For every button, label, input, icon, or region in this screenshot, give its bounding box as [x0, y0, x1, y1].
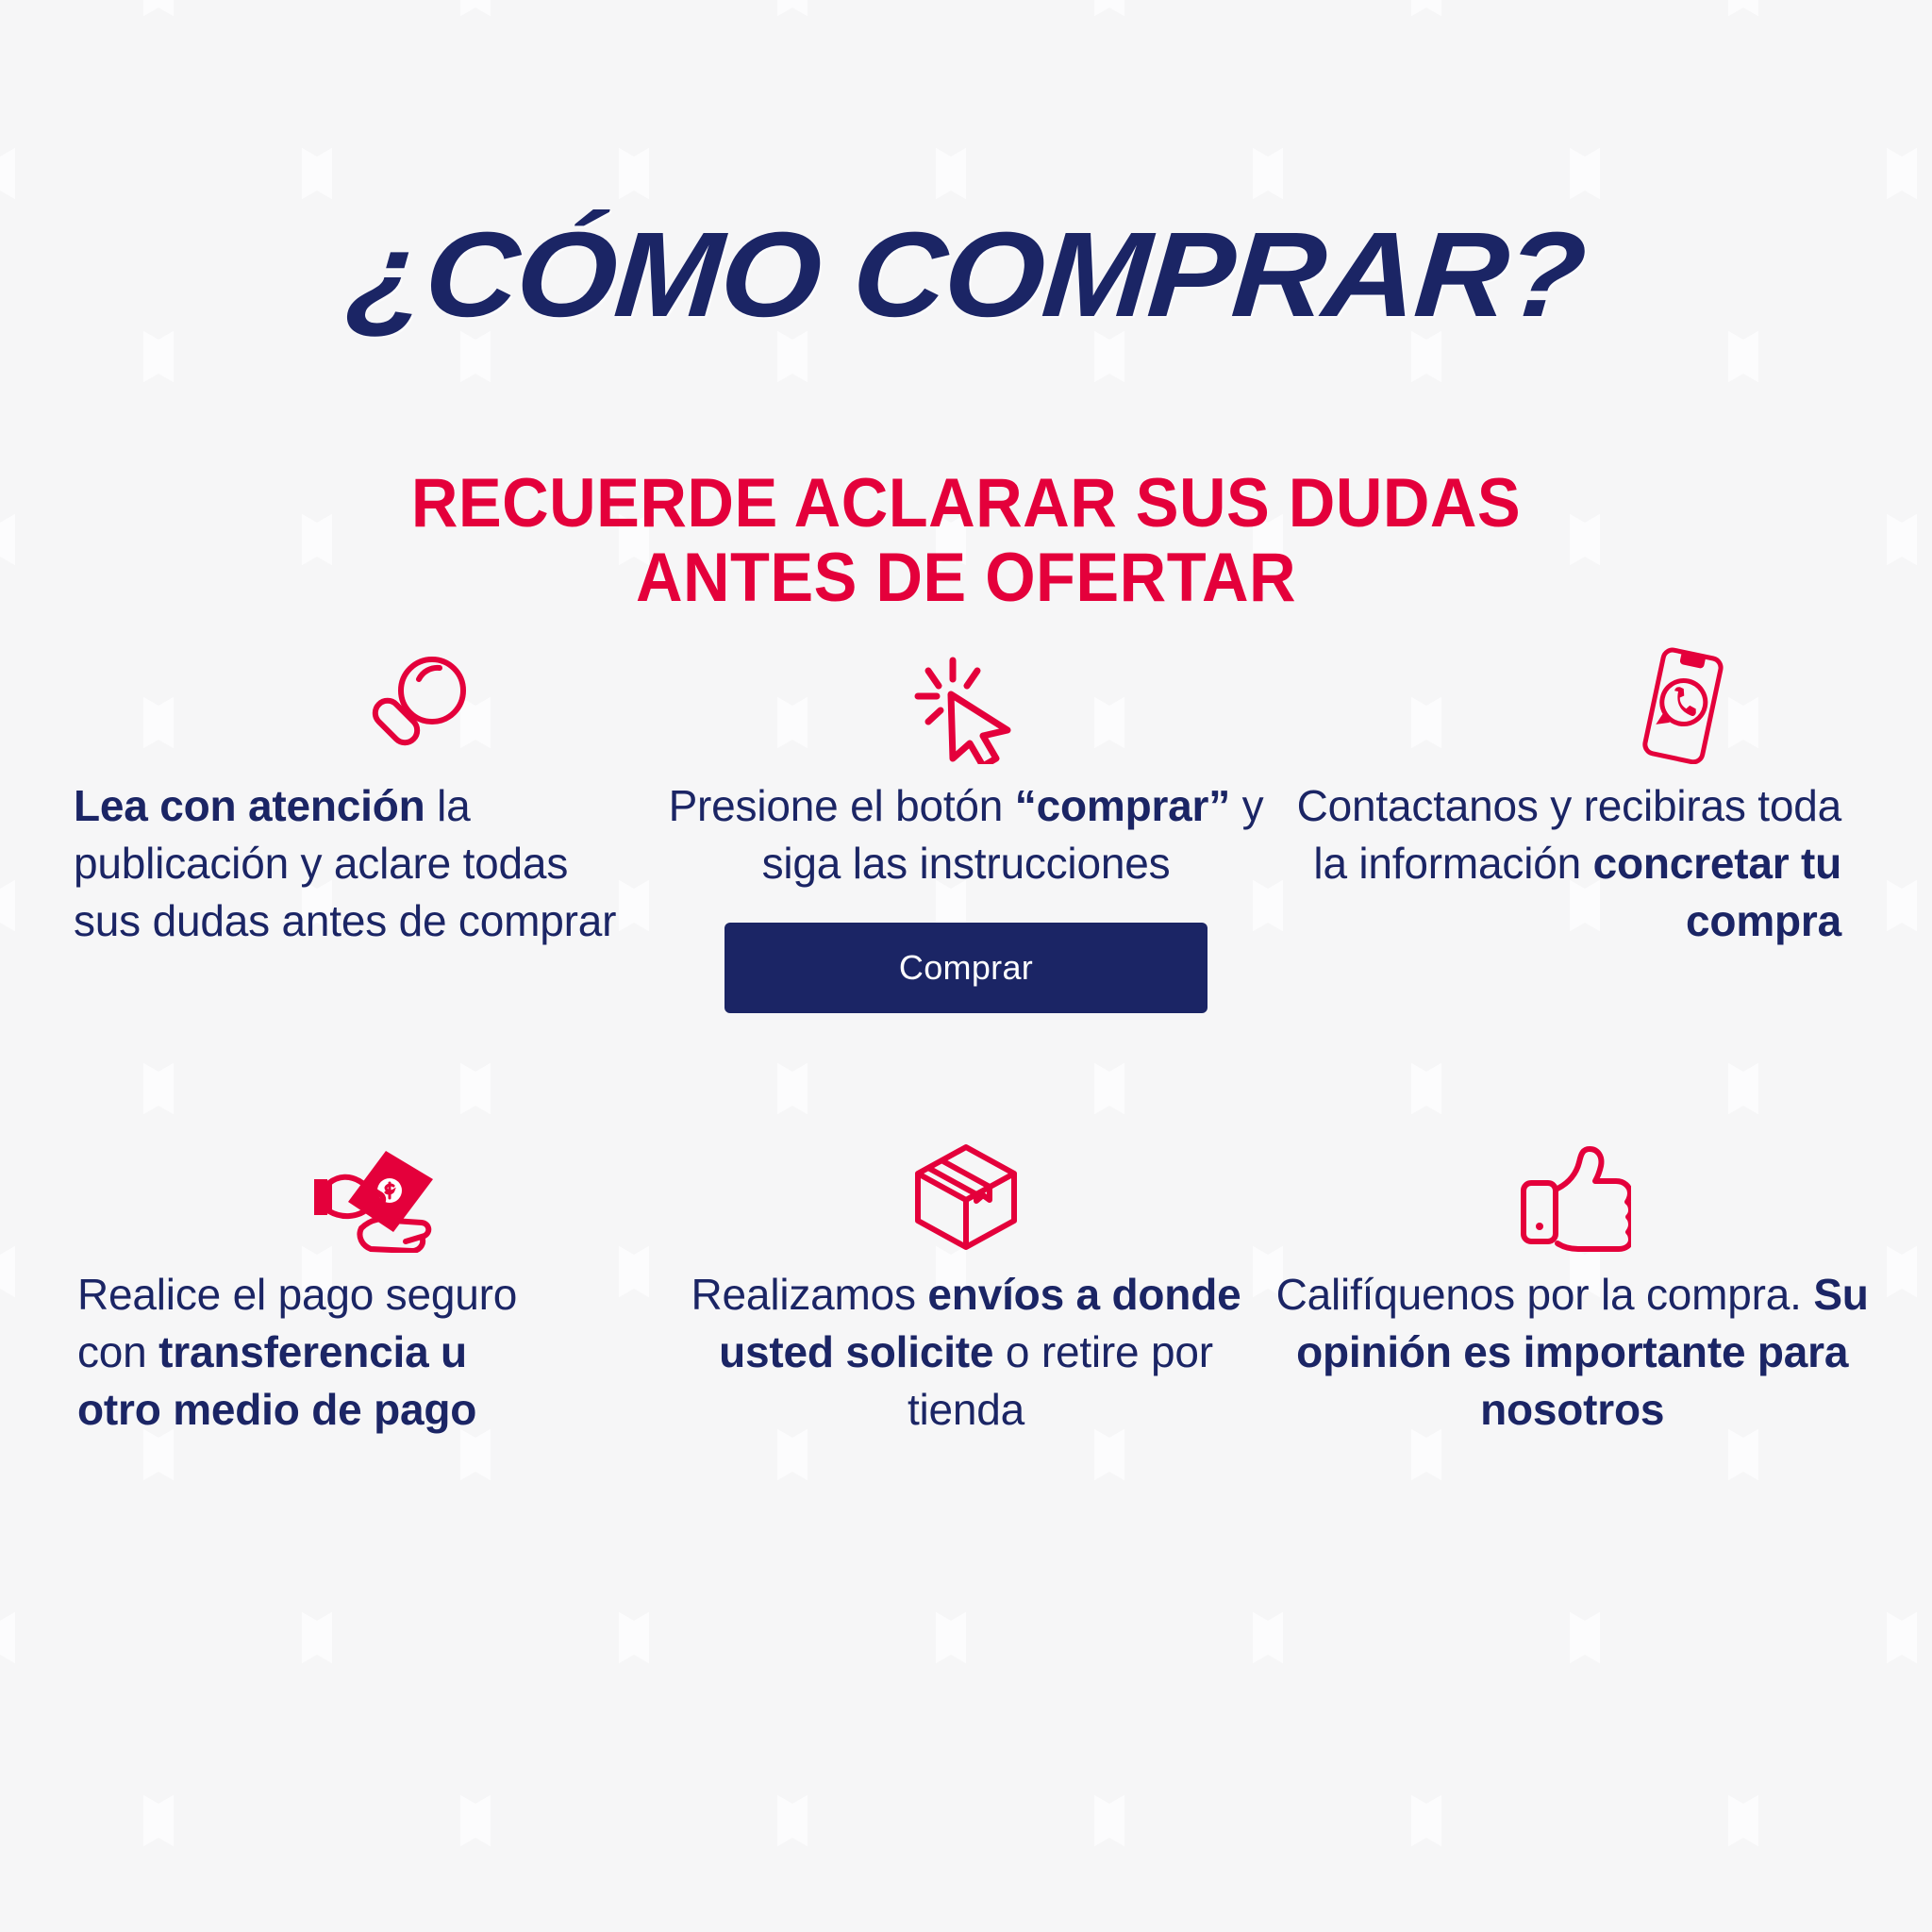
- step-card-shipping: Realizamos envíos a donde usted solicite…: [663, 1140, 1270, 1545]
- step-text: Realizamos envíos a donde usted solicite…: [642, 1266, 1291, 1440]
- header-block: ¿CÓMO COMPRAR?: [0, 215, 1932, 336]
- step-card-read-carefully: Lea con atención la publicación y aclare…: [57, 651, 663, 1113]
- buy-button[interactable]: Comprar: [724, 923, 1207, 1013]
- step-text: Lea con atención la publicación y aclare…: [57, 777, 663, 951]
- hands-money-icon: [303, 1140, 454, 1253]
- step-card-press-buy: Presione el botón “comprar” y siga las i…: [663, 651, 1270, 1113]
- click-cursor-icon: [909, 651, 1023, 764]
- infographic-page: ¿CÓMO COMPRAR? RECUERDE ACLARAR SUS DUDA…: [0, 0, 1932, 1932]
- step-text: Contactanos y recibiras toda la informac…: [1269, 777, 1875, 951]
- whatsapp-phone-icon: [1620, 651, 1742, 764]
- step-text: Califíquenos por la compra. Su opinión e…: [1252, 1266, 1892, 1440]
- package-box-icon: [910, 1140, 1022, 1253]
- steps-row-top: Lea con atención la publicación y aclare…: [57, 651, 1875, 1113]
- page-subtitle: RECUERDE ACLARAR SUS DUDAS ANTES DE OFER…: [58, 467, 1874, 616]
- steps-grid: Lea con atención la publicación y aclare…: [57, 651, 1875, 1545]
- step-card-rate-us: Califíquenos por la compra. Su opinión e…: [1269, 1140, 1875, 1545]
- thumbs-up-icon: [1514, 1140, 1631, 1253]
- subtitle-line-2: ANTES DE OFERTAR: [58, 541, 1874, 616]
- page-title: ¿CÓMO COMPRAR?: [0, 215, 1932, 336]
- step-card-contact-us: Contactanos y recibiras toda la informac…: [1269, 651, 1875, 1113]
- step-text: Presione el botón “comprar” y siga las i…: [637, 777, 1296, 892]
- steps-row-bottom: Realice el pago seguro con transferencia…: [57, 1140, 1875, 1545]
- magnifier-icon: [345, 651, 487, 764]
- subtitle-line-1: RECUERDE ACLARAR SUS DUDAS: [411, 465, 1521, 541]
- step-text: Realice el pago seguro con transferencia…: [57, 1266, 663, 1440]
- step-card-secure-payment: Realice el pago seguro con transferencia…: [57, 1140, 663, 1545]
